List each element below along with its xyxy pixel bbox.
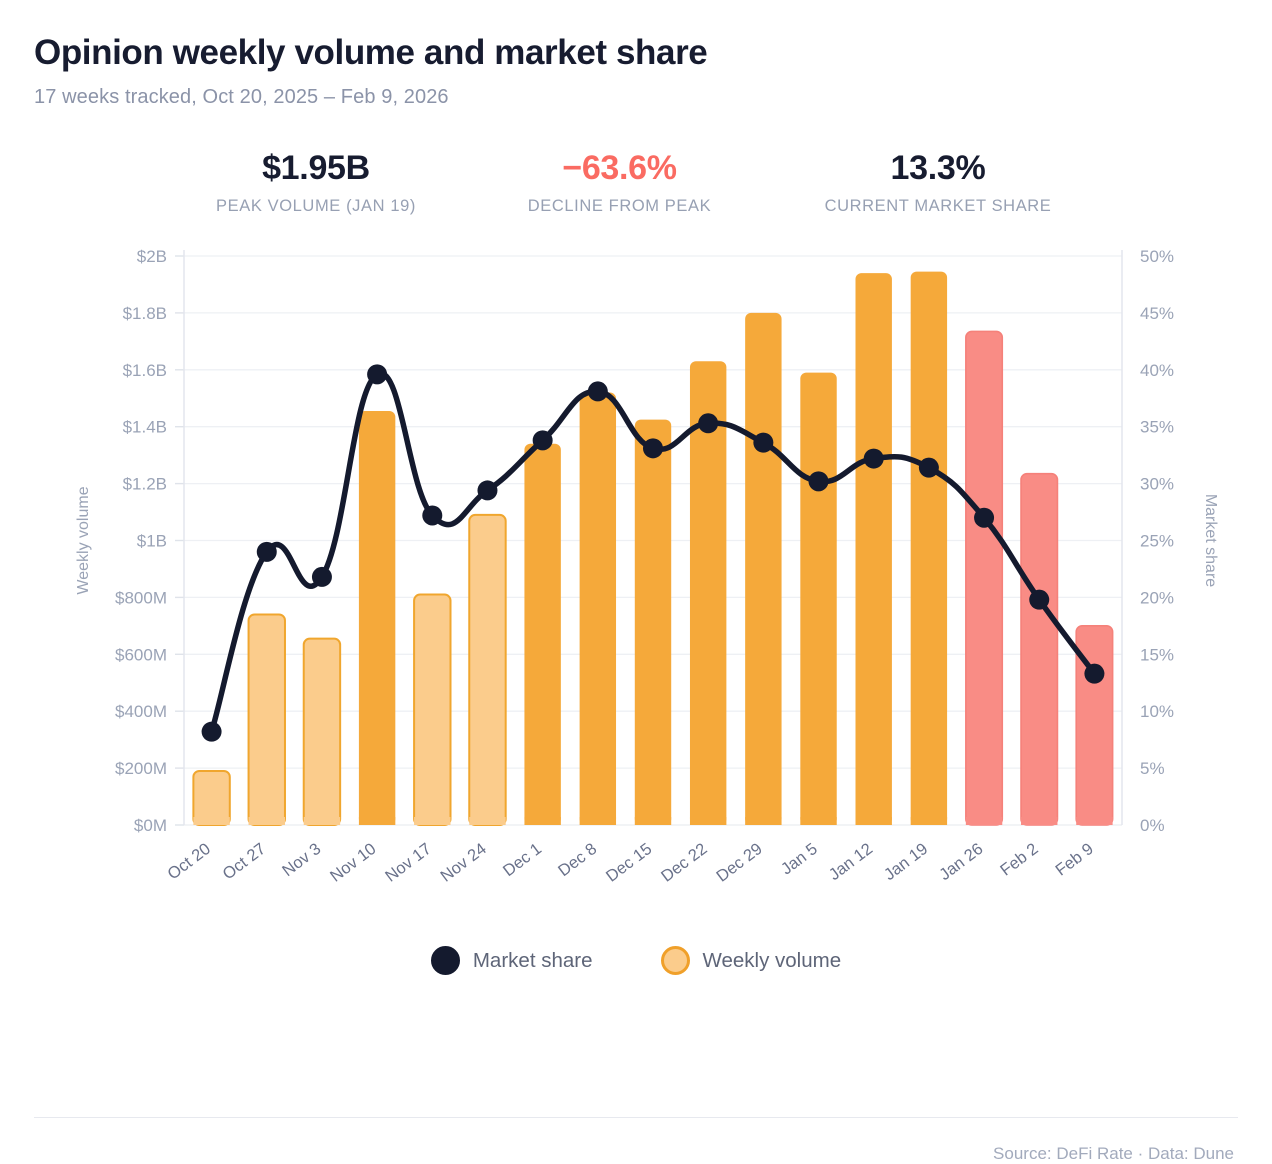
chart-legend: Market share Weekly volume <box>34 946 1238 975</box>
y-axis-title: Weekly volume <box>75 486 92 594</box>
y2-axis-title: Market share <box>1202 494 1219 587</box>
bar-group <box>745 313 781 825</box>
bar[interactable] <box>800 373 836 825</box>
bar[interactable] <box>580 393 616 825</box>
bar-base <box>469 817 505 825</box>
bar-base <box>1021 817 1057 825</box>
chart-page: Opinion weekly volume and market share 1… <box>0 0 1272 1164</box>
market-share-point[interactable] <box>753 433 773 453</box>
market-share-point[interactable] <box>698 413 718 433</box>
market-share-point[interactable] <box>974 508 994 528</box>
x-axis-tick-label: Dec 29 <box>713 840 766 886</box>
bar-base <box>359 817 395 825</box>
bar[interactable] <box>193 771 229 825</box>
market-share-point[interactable] <box>202 722 222 742</box>
x-axis-tick-label: Oct 27 <box>220 840 270 884</box>
y2-axis-tick-label: 45% <box>1140 304 1174 323</box>
bar-base <box>855 817 891 825</box>
y-axis-tick-label: $1B <box>137 532 167 551</box>
bar[interactable] <box>414 595 450 825</box>
bar-base <box>524 817 560 825</box>
bar-group <box>304 639 340 825</box>
x-axis-tick-label: Jan 5 <box>778 840 821 879</box>
bar-group <box>359 411 395 825</box>
y2-axis-tick-label: 30% <box>1140 475 1174 494</box>
kpi-decline-label: Decline from peak <box>466 197 773 216</box>
y2-axis-tick-label: 15% <box>1140 645 1174 664</box>
bar[interactable] <box>911 272 947 825</box>
x-axis-tick-label: Nov 24 <box>437 840 490 886</box>
y2-axis-tick-label: 25% <box>1140 532 1174 551</box>
market-share-point[interactable] <box>1029 590 1049 610</box>
bar-base <box>580 817 616 825</box>
bar-base <box>193 817 229 825</box>
bar[interactable] <box>855 273 891 825</box>
y-axis-tick-label: $2B <box>137 247 167 266</box>
market-share-dot-icon <box>431 946 460 975</box>
x-axis-tick-label: Feb 9 <box>1052 840 1097 880</box>
kpi-current-market-share: 13.3% Current market share <box>773 151 1103 217</box>
bar[interactable] <box>304 639 340 825</box>
bar-group <box>469 515 505 825</box>
bar[interactable] <box>249 615 285 826</box>
chart-container: $0M$200M$400M$600M$800M$1B$1.2B$1.4B$1.6… <box>34 240 1238 940</box>
x-axis-tick-label: Nov 17 <box>382 840 435 886</box>
y-axis-tick-label: $600M <box>115 645 167 664</box>
bar-base <box>414 817 450 825</box>
market-share-point[interactable] <box>809 472 829 492</box>
kpi-peak-volume-value: $1.95B <box>166 151 466 187</box>
y-axis-tick-label: $1.2B <box>123 475 167 494</box>
bar-base <box>1076 817 1112 825</box>
market-share-point[interactable] <box>477 481 497 501</box>
legend-item-market-share[interactable]: Market share <box>431 946 593 975</box>
bar-group <box>635 420 671 825</box>
bar-base <box>911 817 947 825</box>
x-axis-tick-label: Dec 1 <box>500 840 545 880</box>
x-axis-tick-label: Nov 3 <box>279 840 324 880</box>
y-axis-tick-label: $200M <box>115 759 167 778</box>
kpi-peak-volume-label: Peak volume (Jan 19) <box>166 197 466 216</box>
bar-group <box>1021 474 1057 825</box>
market-share-point[interactable] <box>1084 664 1104 684</box>
weekly-volume-dot-icon <box>661 946 690 975</box>
market-share-point[interactable] <box>919 458 939 478</box>
x-axis-tick-label: Feb 2 <box>997 840 1042 880</box>
x-axis-tick-label: Jan 26 <box>936 840 986 884</box>
market-share-point[interactable] <box>312 567 332 587</box>
bar-group <box>249 615 285 826</box>
bar-base <box>800 817 836 825</box>
kpi-peak-volume: $1.95B Peak volume (Jan 19) <box>166 151 466 217</box>
page-title: Opinion weekly volume and market share <box>34 34 1238 73</box>
bar-group <box>193 771 229 825</box>
bar[interactable] <box>1021 474 1057 825</box>
bar-base <box>966 817 1002 825</box>
kpi-market-share-label: Current market share <box>773 197 1103 216</box>
y2-axis-tick-label: 40% <box>1140 361 1174 380</box>
x-axis-tick-label: Dec 15 <box>603 840 656 886</box>
bar-base <box>304 817 340 825</box>
market-share-point[interactable] <box>643 439 663 459</box>
y-axis-tick-label: $400M <box>115 702 167 721</box>
kpi-row: $1.95B Peak volume (Jan 19) −63.6% Decli… <box>34 151 1238 217</box>
legend-label-market-share: Market share <box>473 949 593 973</box>
market-share-point[interactable] <box>533 431 553 451</box>
bar[interactable] <box>635 420 671 825</box>
bar[interactable] <box>745 313 781 825</box>
bar-group <box>855 273 891 825</box>
bar-group <box>966 332 1002 826</box>
y2-axis-tick-label: 10% <box>1140 702 1174 721</box>
x-axis-tick-label: Jan 19 <box>881 840 931 884</box>
page-subtitle: 17 weeks tracked, Oct 20, 2025 – Feb 9, … <box>34 86 1238 109</box>
bar-group <box>580 393 616 825</box>
kpi-market-share-value: 13.3% <box>773 151 1103 187</box>
y-axis-tick-label: $1.6B <box>123 361 167 380</box>
bar[interactable] <box>524 444 560 825</box>
bar-group <box>414 595 450 825</box>
market-share-point[interactable] <box>367 365 387 385</box>
bar[interactable] <box>359 411 395 825</box>
x-axis-tick-label: Jan 12 <box>826 840 876 884</box>
x-axis-tick-label: Dec 8 <box>555 840 600 880</box>
legend-item-weekly-volume[interactable]: Weekly volume <box>661 946 842 975</box>
legend-label-weekly-volume: Weekly volume <box>703 949 842 973</box>
x-axis-tick-label: Dec 22 <box>658 840 711 886</box>
y-axis-tick-label: $0M <box>134 816 167 835</box>
bar-group <box>911 272 947 825</box>
y2-axis-tick-label: 50% <box>1140 247 1174 266</box>
y2-axis-tick-label: 0% <box>1140 816 1165 835</box>
market-share-point[interactable] <box>588 382 608 402</box>
y2-axis-tick-label: 20% <box>1140 589 1174 608</box>
bar-group <box>800 373 836 825</box>
bar[interactable] <box>966 332 1002 826</box>
x-axis-tick-label: Oct 20 <box>164 840 214 884</box>
bar-group <box>524 444 560 825</box>
kpi-decline-value: −63.6% <box>466 151 773 187</box>
bar-base <box>745 817 781 825</box>
market-share-point[interactable] <box>422 506 442 526</box>
market-share-point[interactable] <box>257 542 277 562</box>
y-axis-tick-label: $1.4B <box>123 418 167 437</box>
y2-axis-tick-label: 5% <box>1140 759 1165 778</box>
chart-footer: Source: DeFi Rate · Data: Dune <box>34 1117 1238 1164</box>
kpi-decline-from-peak: −63.6% Decline from peak <box>466 151 773 217</box>
bar-base <box>690 817 726 825</box>
source-note: Source: DeFi Rate · Data: Dune <box>34 1144 1238 1164</box>
bar[interactable] <box>469 515 505 825</box>
y-axis-tick-label: $1.8B <box>123 304 167 323</box>
market-share-point[interactable] <box>864 449 884 469</box>
bar-base <box>635 817 671 825</box>
y-axis-tick-label: $800M <box>115 589 167 608</box>
x-axis-tick-label: Nov 10 <box>327 840 380 886</box>
y2-axis-tick-label: 35% <box>1140 418 1174 437</box>
bar-base <box>249 817 285 825</box>
combo-chart: $0M$200M$400M$600M$800M$1B$1.2B$1.4B$1.6… <box>34 240 1238 940</box>
